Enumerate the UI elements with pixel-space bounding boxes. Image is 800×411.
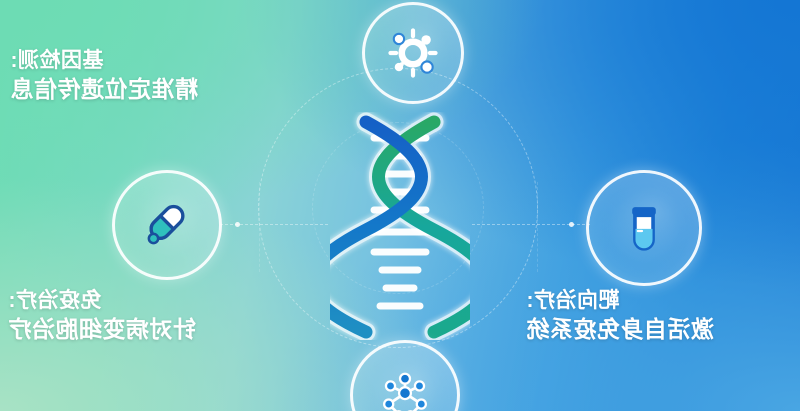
grid-line-right [259,182,260,272]
node-capsule-pill[interactable] [112,170,222,280]
capsule-pill-icon [140,198,194,252]
label-immunotherapy: 免疫治疗: 针对病变细胞治疗 [8,288,270,344]
node-cell-molecule[interactable] [362,2,464,104]
label-gene-test-desc: 精准定位遗传信息 [10,75,280,104]
label-immunotherapy-desc: 针对病变细胞治疗 [8,315,270,344]
label-gene-test-title: 基因检测: [10,48,280,75]
label-immunotherapy-title: 免疫治疗: [8,288,270,315]
dna-helix-graphic [330,112,470,340]
label-targeted-therapy-desc: 激活自身免疫系统 [526,315,788,344]
cell-molecule-icon [383,23,443,83]
mirrored-composition: 基因检测: 精准定位遗传信息 靶向治疗: 激活自身免疫系统 免疫治疗: 针对病变… [0,0,800,411]
connector-dot-right [235,222,240,227]
test-tube-icon [615,199,673,257]
label-targeted-therapy: 靶向治疗: 激活自身免疫系统 [526,288,788,344]
connector-dot-left [569,222,574,227]
node-molecule-network[interactable] [350,340,460,411]
molecule-network-icon [376,366,434,411]
grid-line-left [537,182,538,272]
label-targeted-therapy-title: 靶向治疗: [526,288,788,315]
label-gene-test: 基因检测: 精准定位遗传信息 [10,48,280,104]
infographic-canvas: 基因检测: 精准定位遗传信息 靶向治疗: 激活自身免疫系统 免疫治疗: 针对病变… [0,0,800,411]
node-test-tube[interactable] [586,170,702,286]
